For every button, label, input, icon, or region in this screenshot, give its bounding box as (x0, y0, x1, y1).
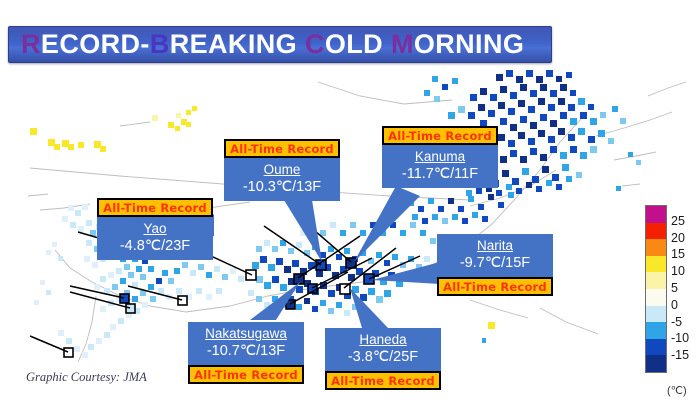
status-badge-haneda: All-Time Record (325, 371, 441, 390)
colorbar-swatch-8 (646, 339, 666, 356)
title-part-reaking: REAKING (170, 29, 305, 59)
colorbar-tick-neg10: -10 (671, 332, 689, 344)
colorbar-tick-5: 5 (671, 282, 678, 294)
status-badge-oume: All-Time Record (224, 139, 340, 158)
callout-nakatsugawa: Nakatsugawa -10.7℃/13F All-Time Record (188, 322, 304, 384)
weather-map-graphic: RECORD-BREAKING COLD MORNING All-Time Re… (0, 0, 700, 411)
station-temp-kanuma: -11.7℃/11F (382, 165, 498, 183)
callout-yao: All-Time Record Yao -4.8℃/23F (97, 198, 213, 260)
colorbar-swatch-4 (646, 272, 666, 289)
colorbar-swatch-2 (646, 239, 666, 256)
station-temp-nakatsugawa: -10.7℃/13F (188, 342, 304, 360)
colorbar-swatch-5 (646, 289, 666, 306)
title-part-old: OLD (325, 29, 391, 59)
colorbar-tick-20: 20 (671, 232, 685, 244)
graphic-credit: Graphic Courtesy: JMA (26, 370, 147, 385)
station-temp-oume: -10.3℃/13F (224, 178, 340, 196)
status-badge-kanuma: All-Time Record (382, 126, 498, 145)
infobox-haneda: Haneda -3.8℃/25F (325, 328, 441, 371)
title-letter-b: B (150, 29, 170, 59)
station-temp-narita: -9.7℃/15F (437, 254, 553, 272)
station-name-narita: Narita (437, 237, 553, 254)
infobox-yao: Yao -4.8℃/23F (97, 217, 213, 260)
colorbar-swatch-6 (646, 306, 666, 323)
status-badge-narita: All-Time Record (437, 277, 553, 296)
colorbar-tick-labels: 2520151050-5-10-15 (671, 205, 697, 373)
title-part-ecord: ECORD- (41, 29, 150, 59)
station-temp-yao: -4.8℃/23F (97, 237, 213, 255)
colorbar-tick-neg5: -5 (671, 316, 682, 328)
colorbar-tick-10: 10 (671, 265, 685, 277)
callout-kanuma: All-Time Record Kanuma -11.7℃/11F (382, 126, 498, 188)
status-badge-yao: All-Time Record (97, 198, 213, 217)
colorbar-gradient (645, 205, 667, 373)
colorbar-swatch-7 (646, 322, 666, 339)
title-part-orning: ORNING (414, 29, 524, 59)
colorbar-swatch-0 (646, 206, 666, 223)
station-name-nakatsugawa: Nakatsugawa (188, 325, 304, 342)
temperature-color-scale: 2520151050-5-10-15 (℃) (645, 205, 697, 395)
station-name-kanuma: Kanuma (382, 148, 498, 165)
colorbar-swatch-1 (646, 223, 666, 240)
page-title: RECORD-BREAKING COLD MORNING (21, 31, 524, 58)
status-badge-nakatsugawa: All-Time Record (188, 365, 304, 384)
colorbar-tick-neg15: -15 (671, 349, 689, 361)
colorbar-tick-0: 0 (671, 299, 678, 311)
infobox-nakatsugawa: Nakatsugawa -10.7℃/13F (188, 322, 304, 365)
station-name-yao: Yao (97, 220, 213, 237)
infobox-kanuma: Kanuma -11.7℃/11F (382, 145, 498, 188)
callout-oume: All-Time Record Oume -10.3℃/13F (224, 139, 340, 201)
colorbar-swatch-3 (646, 256, 666, 273)
callout-narita: Narita -9.7℃/15F All-Time Record (437, 234, 553, 296)
title-letter-r: R (21, 29, 41, 59)
station-name-haneda: Haneda (325, 331, 441, 348)
title-letter-c: C (305, 29, 325, 59)
colorbar-tick-25: 25 (671, 215, 685, 227)
colorbar-unit-label: (℃) (667, 384, 687, 397)
colorbar-tick-15: 15 (671, 248, 685, 260)
station-temp-haneda: -3.8℃/25F (325, 348, 441, 366)
colorbar-swatch-9 (646, 355, 666, 372)
callout-haneda: Haneda -3.8℃/25F All-Time Record (325, 328, 441, 390)
infobox-narita: Narita -9.7℃/15F (437, 234, 553, 277)
title-letter-m: M (391, 29, 414, 59)
title-banner: RECORD-BREAKING COLD MORNING (8, 26, 552, 63)
station-name-oume: Oume (224, 161, 340, 178)
infobox-oume: Oume -10.3℃/13F (224, 158, 340, 201)
